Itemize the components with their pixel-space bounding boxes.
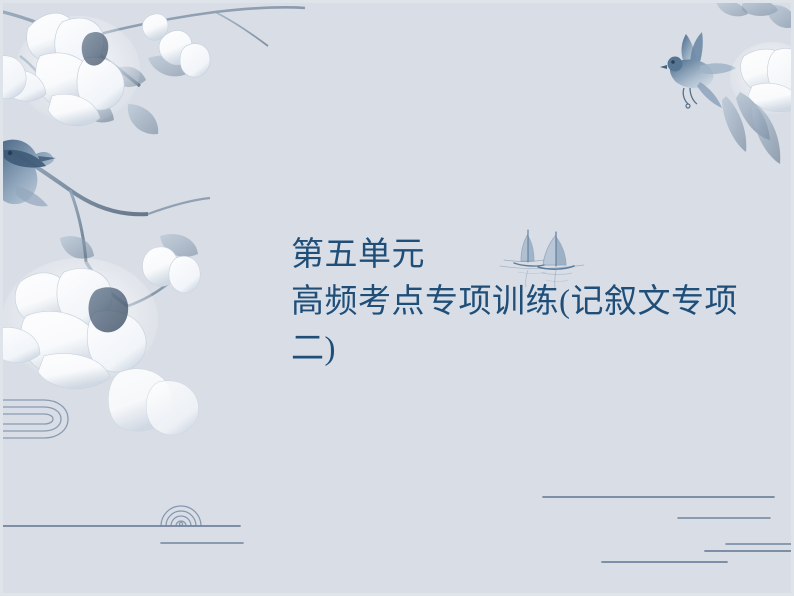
magnolia-flower-artwork xyxy=(716,0,794,164)
title-line-3: 二) xyxy=(291,326,791,373)
title-line-1: 第五单元 xyxy=(291,232,791,279)
magnolia-branch-artwork xyxy=(0,7,305,435)
concentric-arc-icon xyxy=(161,506,201,526)
page-title: 第五单元 高频考点专项训练(记叙文专项 二) xyxy=(291,232,791,373)
flying-bird-icon xyxy=(660,32,736,108)
concentric-u-shape-icon xyxy=(0,400,68,438)
horizontal-accent-lines xyxy=(0,497,794,562)
slide-canvas: 第五单元 高频考点专项训练(记叙文专项 二) xyxy=(0,0,794,596)
title-line-2: 高频考点专项训练(记叙文专项 xyxy=(291,279,791,326)
